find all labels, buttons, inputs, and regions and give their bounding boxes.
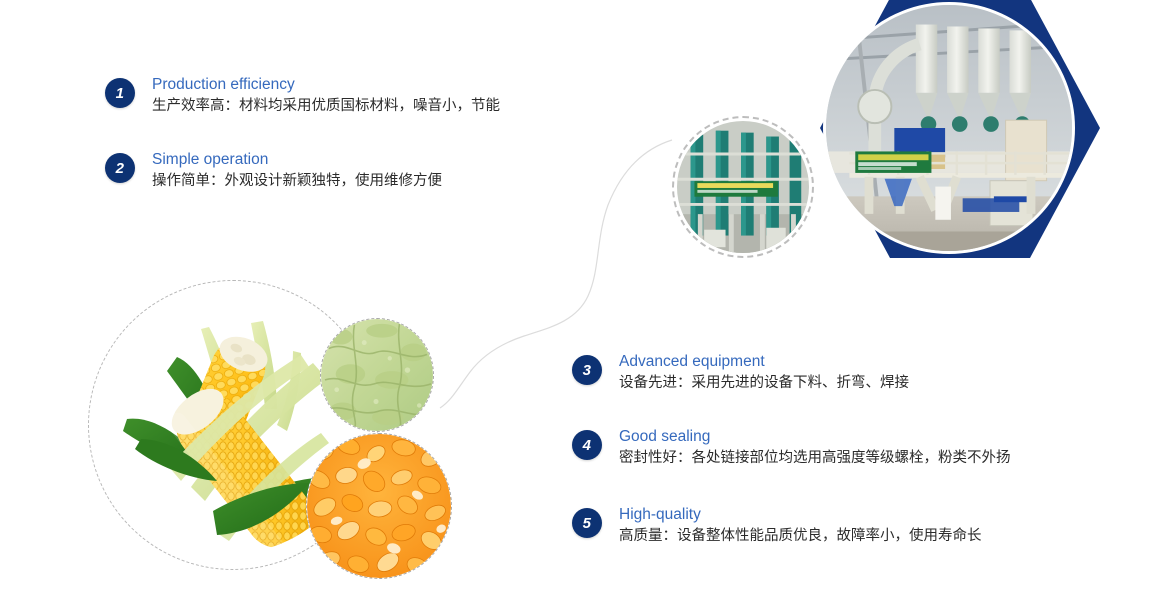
feature-text-4: Good sealing 密封性好：各处链接部位均选用高强度等级螺栓，粉类不外扬 (619, 427, 1011, 469)
corn-product-circle-cluster (88, 280, 488, 591)
feature-text-2: Simple operation 操作简单：外观设计新颖独特，使用维修方便 (152, 150, 442, 192)
feature-number-badge-4: 4 (572, 430, 602, 460)
feature-description-5: 高质量：设备整体性能品质优良，故障率小，使用寿命长 (619, 525, 982, 547)
feature-title-3: Advanced equipment (619, 352, 909, 371)
feature-description-4: 密封性好：各处链接部位均选用高强度等级螺栓，粉类不外扬 (619, 447, 1011, 469)
green-corn-processing-line-photo (672, 116, 814, 258)
feature-number-badge-2: 2 (105, 153, 135, 183)
feature-number-badge-5: 5 (572, 508, 602, 538)
feature-item-3: 3 Advanced equipment 设备先进：采用先进的设备下料、折弯、焊… (572, 352, 909, 394)
feature-title-5: High-quality (619, 505, 982, 524)
flour-milling-plant-hexagon-cluster (660, 0, 1120, 273)
orange-corn-grits-kernels-photo (306, 433, 452, 579)
feature-item-4: 4 Good sealing 密封性好：各处链接部位均选用高强度等级螺栓，粉类不… (572, 427, 1011, 469)
feature-title-1: Production efficiency (152, 75, 500, 94)
feature-number-badge-1: 1 (105, 78, 135, 108)
flour-milling-machinery-plant-photo (823, 2, 1075, 254)
infographic-canvas: 1 Production efficiency 生产效率高：材料均采用优质国标材… (0, 0, 1154, 591)
feature-item-1: 1 Production efficiency 生产效率高：材料均采用优质国标材… (105, 75, 500, 117)
green-corn-dough-texture-photo (320, 318, 434, 432)
feature-description-1: 生产效率高：材料均采用优质国标材料，噪音小，节能 (152, 95, 500, 117)
feature-text-3: Advanced equipment 设备先进：采用先进的设备下料、折弯、焊接 (619, 352, 909, 394)
feature-description-2: 操作简单：外观设计新颖独特，使用维修方便 (152, 170, 442, 192)
feature-item-5: 5 High-quality 高质量：设备整体性能品质优良，故障率小，使用寿命长 (572, 505, 982, 547)
feature-item-2: 2 Simple operation 操作简单：外观设计新颖独特，使用维修方便 (105, 150, 442, 192)
feature-number-badge-3: 3 (572, 355, 602, 385)
feature-text-5: High-quality 高质量：设备整体性能品质优良，故障率小，使用寿命长 (619, 505, 982, 547)
feature-title-2: Simple operation (152, 150, 442, 169)
feature-text-1: Production efficiency 生产效率高：材料均采用优质国标材料，… (152, 75, 500, 117)
feature-description-3: 设备先进：采用先进的设备下料、折弯、焊接 (619, 372, 909, 394)
feature-title-4: Good sealing (619, 427, 1011, 446)
